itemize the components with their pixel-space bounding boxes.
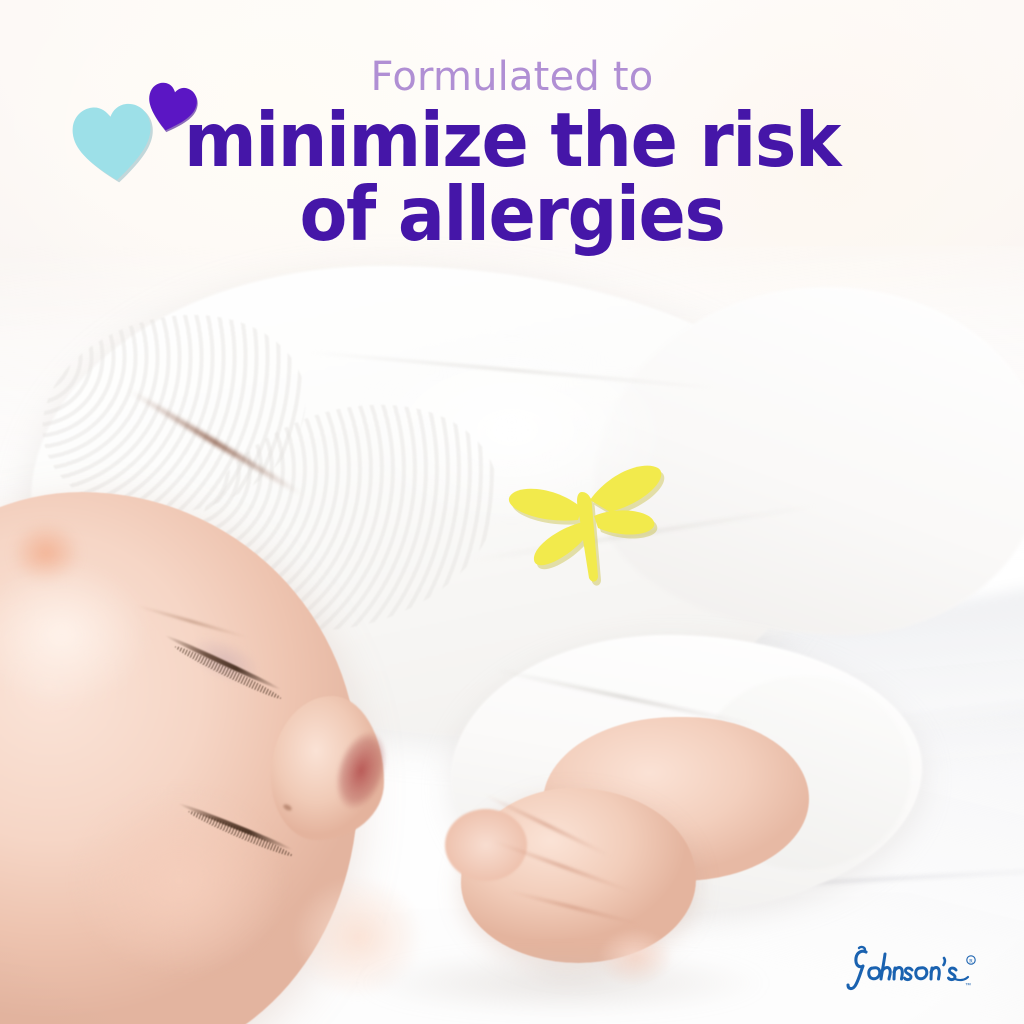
headline-line-1: minimize the risk [36,104,988,178]
headline-line-2: of allergies [36,178,988,252]
registered-trademark-symbol: R [967,956,975,965]
advertisement-canvas: Formulated to minimize the risk of aller… [0,0,1024,1024]
eyebrow-text: Formulated to [0,56,1024,98]
trademark-symbol: ™ [965,982,971,989]
headline-text: minimize the risk of allergies [36,104,988,251]
yellow-dragonfly-icon [498,458,670,586]
johnsons-brand-logo: R ™ [846,944,998,992]
svg-text:R: R [969,959,973,965]
headline-copy-block: Formulated to minimize the risk of aller… [0,56,1024,251]
